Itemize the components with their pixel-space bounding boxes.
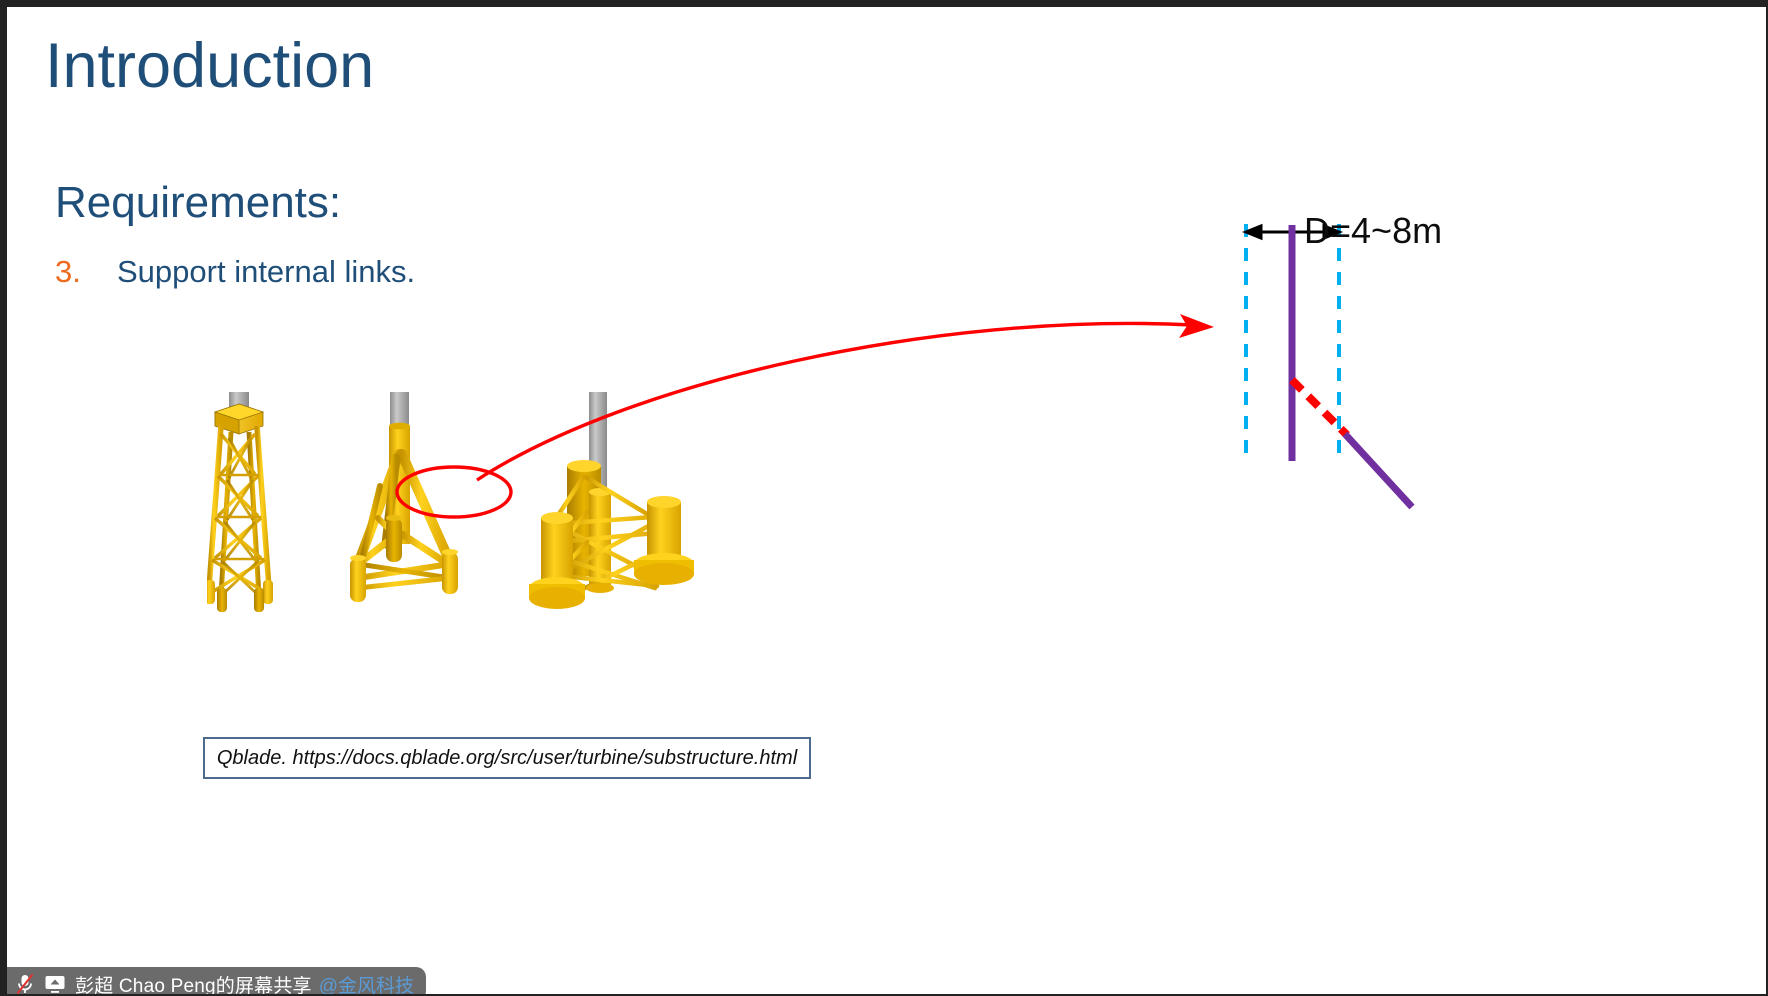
microphone-muted-icon[interactable] <box>15 973 35 995</box>
screen-share-window: Introduction Requirements: 3. Support in… <box>0 0 1768 996</box>
substructure-svg <box>207 392 807 692</box>
section-heading-requirements: Requirements: <box>55 179 341 227</box>
list-item-label: Support internal links. <box>117 254 415 290</box>
presentation-slide: Introduction Requirements: 3. Support in… <box>7 7 1766 994</box>
dimension-label: D=4~8m <box>1304 210 1442 252</box>
page-title: Introduction <box>45 32 374 101</box>
citation-box: Qblade. https://docs.qblade.org/src/user… <box>203 737 811 779</box>
pile-branch <box>1345 434 1412 507</box>
screen-share-icon[interactable] <box>44 974 66 994</box>
share-presenter-label: 彭超 Chao Peng的屏幕共享 <box>75 971 312 996</box>
list-item-number: 3. <box>55 254 117 290</box>
list-item: 3. Support internal links. <box>55 254 415 290</box>
semisubmersible-floating-platform <box>529 392 694 609</box>
citation-text: Qblade. https://docs.qblade.org/src/user… <box>217 747 797 770</box>
jacket-substructure <box>207 392 273 612</box>
share-organization-label: @金风科技 <box>319 971 414 996</box>
screen-share-status-bar[interactable]: 彭超 Chao Peng的屏幕共享 @金风科技 <box>7 967 426 996</box>
substructure-illustration <box>207 392 807 692</box>
tripod-substructure <box>350 392 458 602</box>
